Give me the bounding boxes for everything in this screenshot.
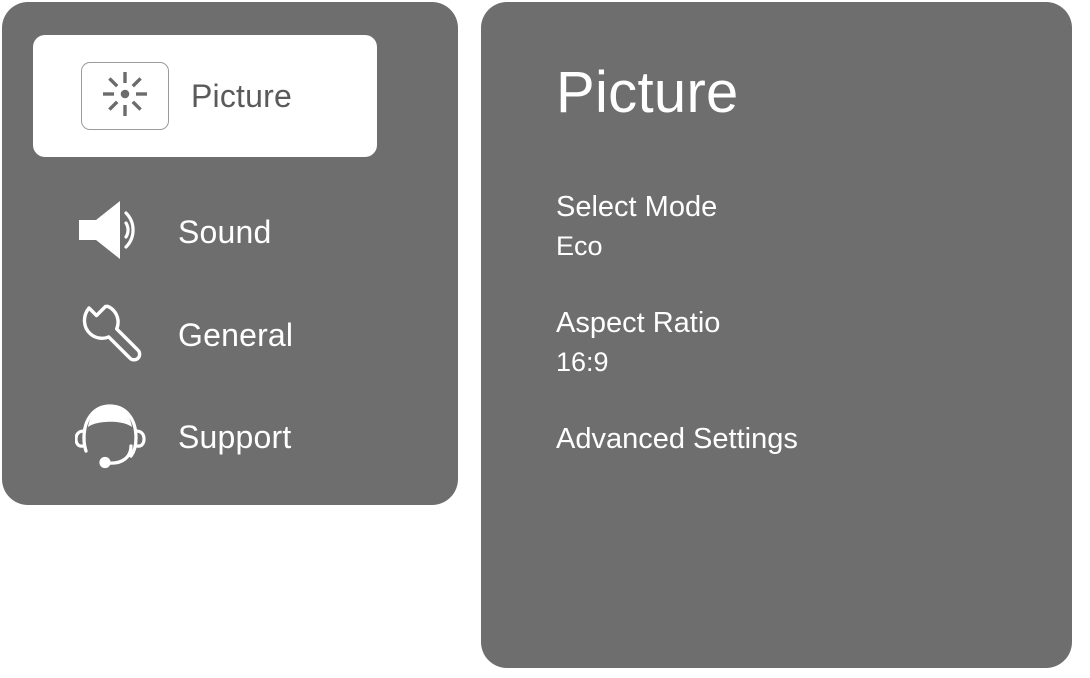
brightness-icon bbox=[99, 68, 151, 125]
option-row-select-mode[interactable]: Select Mode Eco bbox=[556, 187, 1048, 265]
brightness-icon-box bbox=[81, 62, 169, 130]
option-label-advanced-settings: Advanced Settings bbox=[556, 419, 1048, 459]
picture-detail-panel: Picture Select Mode Eco Aspect Ratio 16:… bbox=[481, 2, 1072, 668]
wrench-icon bbox=[79, 300, 145, 371]
sidebar-item-picture[interactable]: Picture bbox=[33, 35, 377, 157]
sidebar-item-label-general: General bbox=[178, 317, 293, 354]
option-row-aspect-ratio[interactable]: Aspect Ratio 16:9 bbox=[556, 303, 1048, 381]
option-label-aspect-ratio: Aspect Ratio bbox=[556, 303, 1048, 343]
sidebar-item-label-support: Support bbox=[178, 419, 291, 456]
sidebar-item-support[interactable]: Support bbox=[2, 387, 458, 487]
option-value-aspect-ratio: 16:9 bbox=[556, 343, 1048, 381]
sidebar-item-label-picture: Picture bbox=[191, 78, 292, 115]
speaker-icon-wrap bbox=[62, 199, 162, 266]
option-label-select-mode: Select Mode bbox=[556, 187, 1048, 227]
wrench-icon-wrap bbox=[62, 300, 162, 371]
speaker-icon bbox=[76, 199, 148, 266]
option-row-advanced-settings[interactable]: Advanced Settings bbox=[556, 419, 1048, 459]
headset-icon-wrap bbox=[62, 400, 162, 475]
sidebar-item-label-sound: Sound bbox=[178, 214, 272, 251]
picture-options-list: Select Mode Eco Aspect Ratio 16:9 Advanc… bbox=[556, 187, 1048, 459]
page-title: Picture bbox=[556, 59, 739, 126]
sidebar-item-general[interactable]: General bbox=[2, 285, 458, 385]
option-value-select-mode: Eco bbox=[556, 227, 1048, 265]
settings-sidebar-panel: Picture Sound General bbox=[2, 2, 458, 505]
headset-icon bbox=[75, 400, 149, 475]
sidebar-item-sound[interactable]: Sound bbox=[2, 182, 458, 282]
